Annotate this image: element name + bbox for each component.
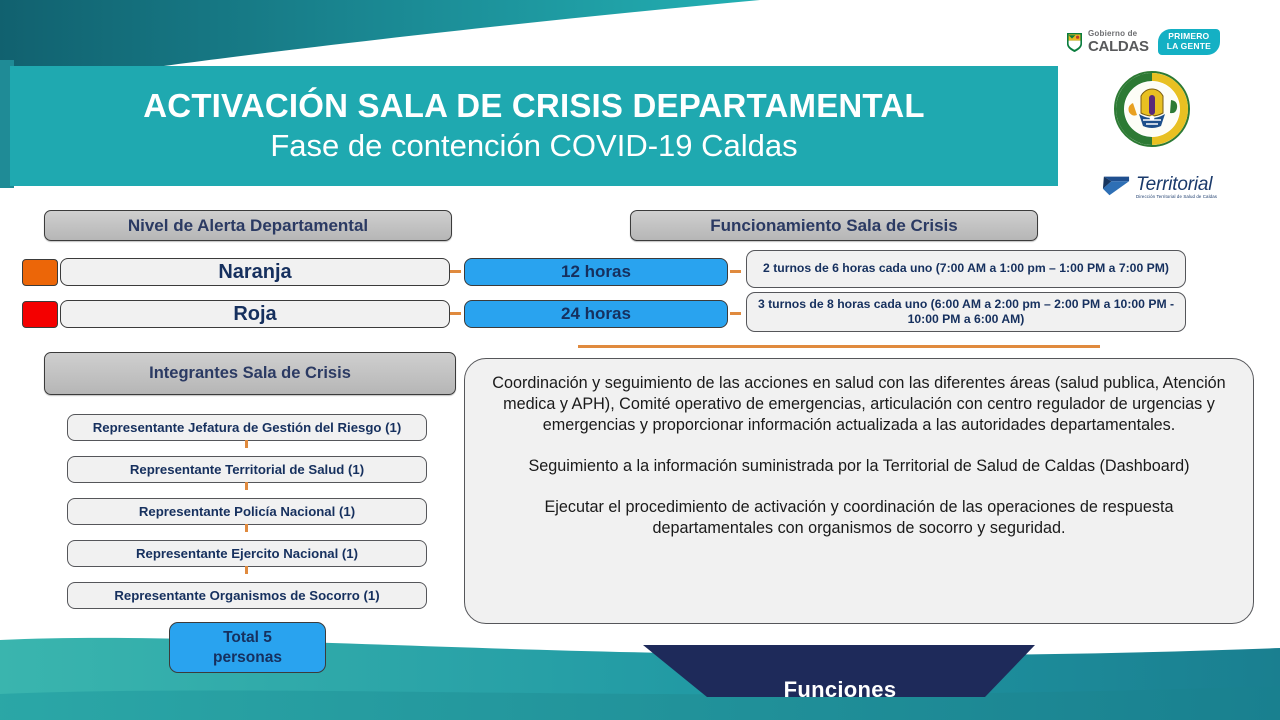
territorial-wordmark: Territorial Dirección Territorial de Sal… (1136, 175, 1217, 199)
slide-canvas: ACTIVACIÓN SALA DE CRISIS DEPARTAMENTAL … (0, 0, 1280, 720)
gobierno-caldas-wordmark: Gobierno de CALDAS (1088, 30, 1149, 54)
funciones-banner-label: Funciones (640, 677, 1040, 703)
section-header-nivel-alerta: Nivel de Alerta Departamental (44, 210, 452, 241)
hours-naranja: 12 horas (464, 258, 728, 286)
primero-line1: PRIMERO (1168, 31, 1209, 41)
section-header-funcionamiento: Funcionamiento Sala de Crisis (630, 210, 1038, 241)
primero-line2: LA GENTE (1167, 41, 1211, 51)
connector-dash (450, 270, 461, 273)
funciones-panel: Coordinación y seguimiento de las accion… (464, 358, 1254, 624)
slide-title-banner: ACTIVACIÓN SALA DE CRISIS DEPARTAMENTAL … (10, 66, 1058, 186)
shift-detail-roja: 3 turnos de 8 horas cada uno (6:00 AM a … (746, 292, 1186, 332)
shift-detail-naranja: 2 turnos de 6 horas cada uno (7:00 AM a … (746, 250, 1186, 288)
connector-dash (450, 312, 461, 315)
list-item: Representante Policía Nacional (1) (67, 498, 427, 525)
hours-roja: 24 horas (464, 300, 728, 328)
shield-icon (1066, 32, 1083, 53)
page-subtitle: Fase de contención COVID-19 Caldas (270, 128, 797, 164)
gobierno-label: Gobierno de (1088, 30, 1149, 38)
total-line2: personas (213, 648, 282, 667)
departmental-seal-icon (1113, 70, 1191, 148)
territorial-mark-icon (1100, 171, 1132, 204)
list-item: Representante Organismos de Socorro (1) (67, 582, 427, 609)
connector-dash (730, 270, 741, 273)
connector-dash (730, 312, 741, 315)
connector-dash-vertical (245, 566, 248, 574)
caldas-label: CALDAS (1088, 39, 1149, 54)
primero-la-gente-badge: PRIMERO LA GENTE (1158, 29, 1220, 54)
alert-level-naranja: Naranja (60, 258, 450, 286)
logo-gobierno-caldas: Gobierno de CALDAS PRIMERO LA GENTE (1066, 24, 1246, 60)
funciones-paragraph-2: Seguimiento a la información suministrad… (491, 456, 1227, 477)
connector-dash-vertical (245, 440, 248, 448)
connector-dash-vertical (245, 524, 248, 532)
territorial-name: Territorial (1136, 175, 1217, 194)
list-item: Representante Jefatura de Gestión del Ri… (67, 414, 427, 441)
orange-divider (578, 345, 1100, 348)
total-line1: Total 5 (223, 628, 272, 647)
funciones-paragraph-1: Coordinación y seguimiento de las accion… (491, 373, 1227, 436)
territorial-subtitle: Dirección Territorial de Salud de Caldas (1136, 195, 1217, 199)
list-item: Representante Territorial de Salud (1) (67, 456, 427, 483)
connector-dash-vertical (245, 482, 248, 490)
list-item: Representante Ejercito Nacional (1) (67, 540, 427, 567)
logo-territorial: Territorial Dirección Territorial de Sal… (1100, 168, 1222, 206)
total-personas-box: Total 5 personas (169, 622, 326, 673)
section-header-integrantes: Integrantes Sala de Crisis (44, 352, 456, 395)
funciones-paragraph-3: Ejecutar el procedimiento de activación … (491, 497, 1227, 539)
alert-level-roja: Roja (60, 300, 450, 328)
page-title: ACTIVACIÓN SALA DE CRISIS DEPARTAMENTAL (143, 88, 924, 125)
alert-swatch-naranja (22, 259, 58, 286)
alert-swatch-roja (22, 301, 58, 328)
